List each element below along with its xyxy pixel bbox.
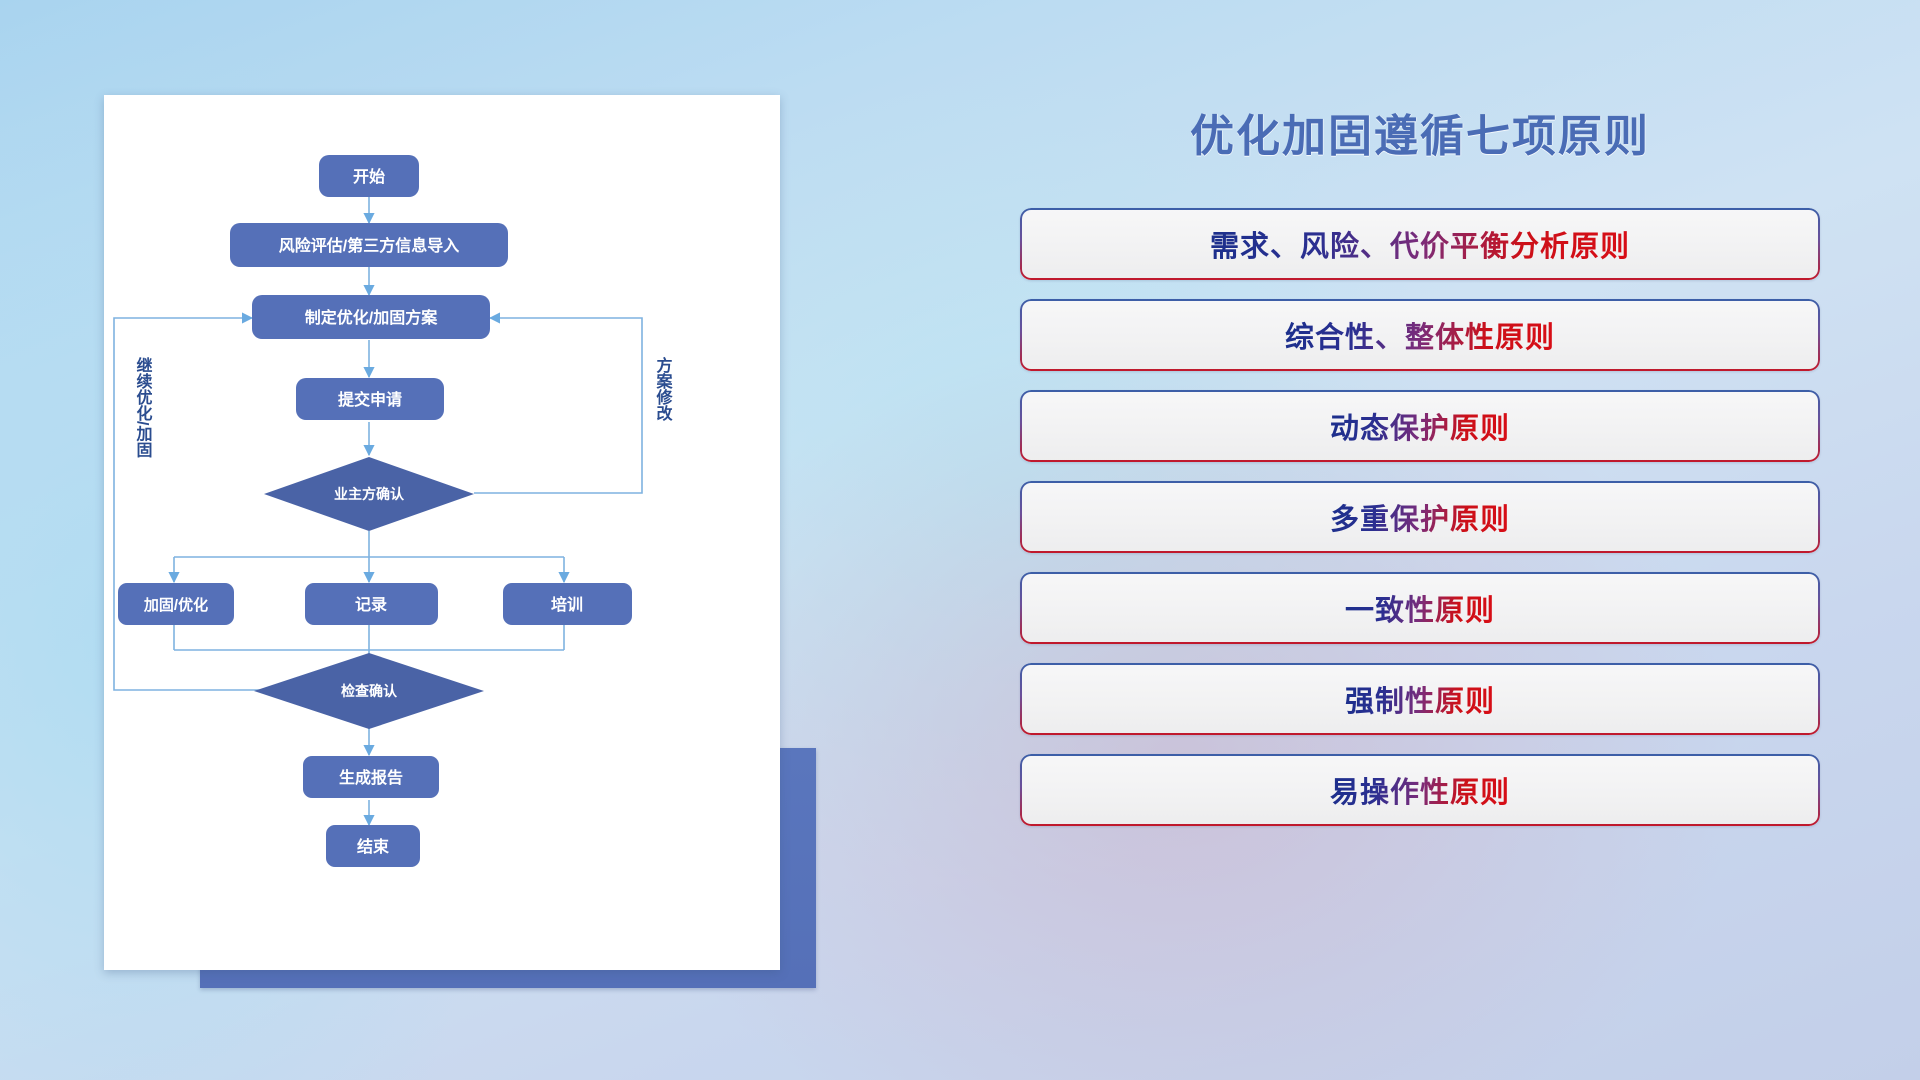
principle-card-label: 需求、风险、代价平衡分析原则 <box>1210 223 1630 265</box>
node-risk-assessment[interactable]: 风险评估/第三方信息导入 <box>230 223 508 267</box>
edge-label-continue-optimize: 继续优化/加固 <box>134 356 154 458</box>
flowchart-panel: 开始 风险评估/第三方信息导入 制定优化/加固方案 提交申请 业主方确认 加固/ <box>104 95 780 970</box>
node-plan[interactable]: 制定优化/加固方案 <box>252 295 490 339</box>
node-check-confirm-label: 检查确认 <box>341 683 398 699</box>
principle-card-label: 强制性原则 <box>1345 678 1495 720</box>
principle-card-label: 易操作性原则 <box>1330 769 1510 811</box>
node-owner-confirm[interactable]: 业主方确认 <box>264 457 474 531</box>
principle-card-label: 多重保护原则 <box>1330 496 1510 538</box>
principle-card[interactable]: 强制性原则 <box>1020 663 1820 735</box>
node-generate-report[interactable]: 生成报告 <box>303 756 439 798</box>
node-submit-application[interactable]: 提交申请 <box>296 378 444 420</box>
principle-card[interactable]: 一致性原则 <box>1020 572 1820 644</box>
principle-card-label: 一致性原则 <box>1345 587 1495 629</box>
node-record-label: 记录 <box>355 596 387 614</box>
node-submit-application-label: 提交申请 <box>338 390 402 409</box>
principles-list: 需求、风险、代价平衡分析原则 综合性、整体性原则 动态保护原则 多重保护原则 一… <box>1020 208 1820 826</box>
flowchart-svg: 开始 风险评估/第三方信息导入 制定优化/加固方案 提交申请 业主方确认 加固/ <box>104 95 780 970</box>
edge-label-plan-revision: 方案修改 <box>654 356 674 422</box>
node-training-label: 培训 <box>551 595 583 614</box>
node-record[interactable]: 记录 <box>305 583 438 625</box>
principles-title: 优化加固遵循七项原则 <box>1020 96 1820 176</box>
node-plan-label: 制定优化/加固方案 <box>305 308 438 327</box>
principle-card[interactable]: 需求、风险、代价平衡分析原则 <box>1020 208 1820 280</box>
node-start[interactable]: 开始 <box>319 155 419 197</box>
principles-panel: 优化加固遵循七项原则 需求、风险、代价平衡分析原则 综合性、整体性原则 动态保护… <box>1020 96 1820 996</box>
node-training[interactable]: 培训 <box>503 583 632 625</box>
node-end-label: 结束 <box>356 837 390 856</box>
principle-card[interactable]: 易操作性原则 <box>1020 754 1820 826</box>
principle-card[interactable]: 多重保护原则 <box>1020 481 1820 553</box>
slide-canvas: 开始 风险评估/第三方信息导入 制定优化/加固方案 提交申请 业主方确认 加固/ <box>0 0 1920 1080</box>
principle-card-label: 综合性、整体性原则 <box>1285 314 1555 356</box>
principle-card[interactable]: 综合性、整体性原则 <box>1020 299 1820 371</box>
node-check-confirm[interactable]: 检查确认 <box>254 653 484 729</box>
node-end[interactable]: 结束 <box>326 825 420 867</box>
node-risk-assessment-label: 风险评估/第三方信息导入 <box>279 236 459 255</box>
node-start-label: 开始 <box>353 167 385 186</box>
node-owner-confirm-label: 业主方确认 <box>334 486 405 502</box>
principle-card[interactable]: 动态保护原则 <box>1020 390 1820 462</box>
node-generate-report-label: 生成报告 <box>339 768 403 787</box>
principle-card-label: 动态保护原则 <box>1330 405 1510 447</box>
node-reinforce-label: 加固/优化 <box>143 596 208 614</box>
node-reinforce[interactable]: 加固/优化 <box>118 583 234 625</box>
